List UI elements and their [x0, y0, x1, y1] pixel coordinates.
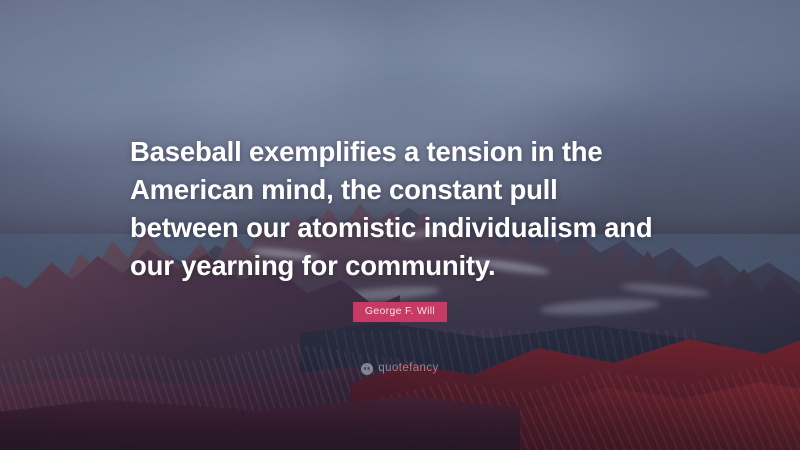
- author-badge: George F. Will: [353, 302, 447, 322]
- quotefancy-brand-label: quotefancy: [378, 363, 438, 375]
- quotefancy-watermark[interactable]: quotefancy: [361, 363, 438, 375]
- quote-text: Baseball exemplifies a tension in the Am…: [130, 133, 670, 285]
- content-overlay: Baseball exemplifies a tension in the Am…: [0, 0, 800, 450]
- quote-wallpaper: Baseball exemplifies a tension in the Am…: [0, 0, 800, 450]
- quotefancy-logo-icon: [361, 363, 373, 375]
